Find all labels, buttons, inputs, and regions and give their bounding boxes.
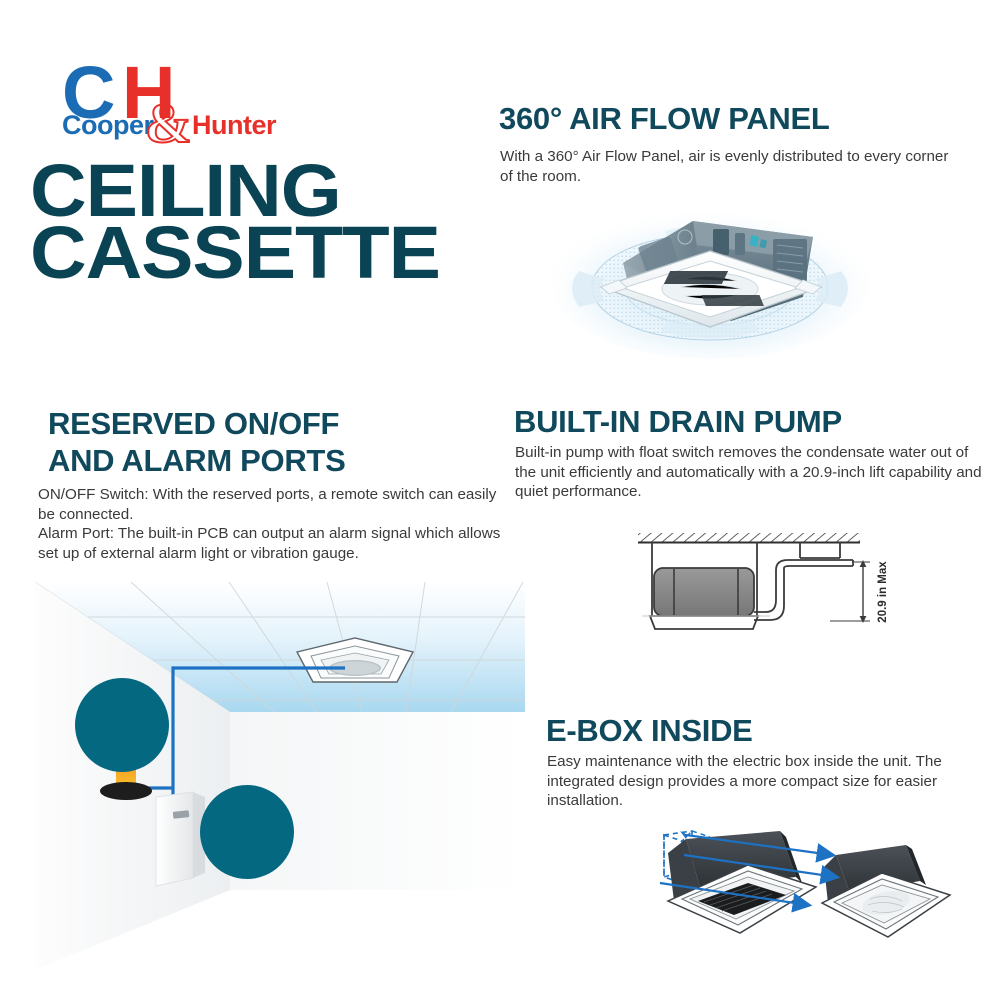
callout-circle-top	[75, 678, 169, 772]
section-body-pump: Built-in pump with float switch removes …	[515, 443, 985, 502]
callout-circle-bottom	[200, 785, 294, 879]
section-heading-ebox: E-BOX INSIDE	[546, 712, 753, 749]
page-title: CEILING CASSETTE	[30, 160, 496, 284]
section-heading-ports-line1: RESERVED ON/OFF	[48, 405, 345, 442]
drain-pump-diagram: 20.9 in Max	[620, 522, 910, 647]
section-heading-pump: BUILT-IN DRAIN PUMP	[514, 403, 842, 440]
ebox-comparison-illustration	[630, 825, 980, 960]
section-body-ports-line1: ON/OFF Switch: With the reserved ports, …	[38, 485, 508, 524]
logo-word-cooper: Cooper	[62, 112, 154, 139]
cooper-hunter-logo: C H Cooper & Hunter	[62, 56, 272, 136]
infographic-page: C H Cooper & Hunter CEILING CASSETTE 360…	[0, 0, 1000, 1000]
section-heading-ports: RESERVED ON/OFF AND ALARM PORTS	[48, 405, 345, 479]
drain-pump-dimension-label: 20.9 in Max	[877, 561, 889, 623]
section-body-ports-line2: Alarm Port: The built-in PCB can output …	[38, 524, 508, 563]
section-body-ports: ON/OFF Switch: With the reserved ports, …	[38, 485, 508, 563]
airflow-cassette-illustration	[545, 175, 875, 360]
section-body-ebox: Easy maintenance with the electric box i…	[547, 752, 967, 811]
page-title-line2: CASSETTE	[30, 222, 496, 284]
section-heading-airflow: 360° AIR FLOW PANEL	[499, 100, 830, 137]
wall-switch	[156, 792, 205, 886]
room-wiring-illustration	[25, 560, 525, 970]
logo-ampersand: &	[145, 96, 192, 152]
logo-word-hunter: Hunter	[192, 112, 276, 139]
section-heading-ports-line2: AND ALARM PORTS	[48, 442, 345, 479]
